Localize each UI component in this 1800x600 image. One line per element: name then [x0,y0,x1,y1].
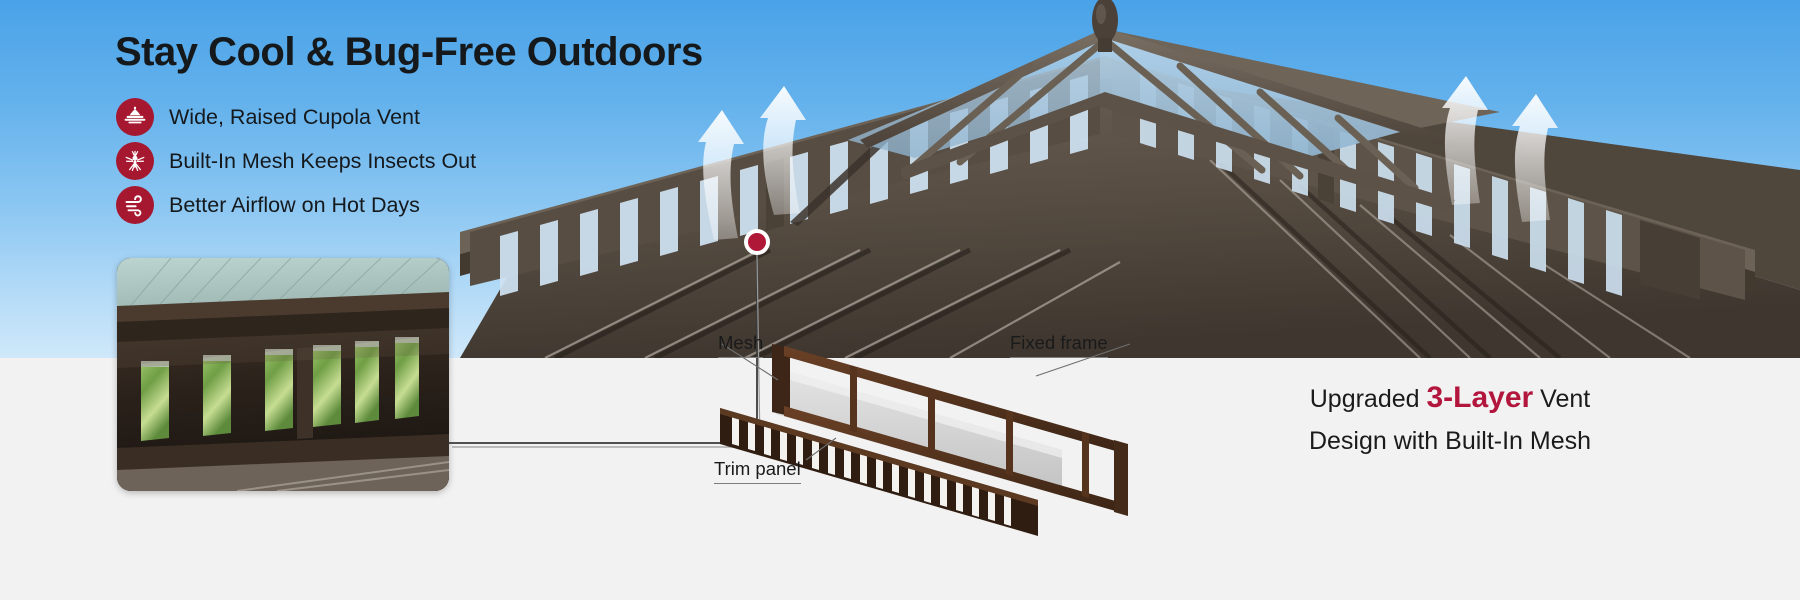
cupola-vent-icon [116,98,154,136]
airflow-wind-icon [116,186,154,224]
vent-closeup-photo-inset [117,258,449,491]
tagline-line-2: Design with Built-In Mesh [1150,422,1750,461]
diagram-label-mesh: Mesh [718,332,763,358]
tagline-highlight: 3-Layer [1427,381,1534,414]
feature-item-mesh-insects: Built-In Mesh Keeps Insects Out [116,142,476,180]
diagram-label-fixed-frame: Fixed frame [1010,332,1108,358]
feature-item-label: Built-In Mesh Keeps Insects Out [169,149,476,174]
mosquito-icon [116,142,154,180]
tagline-block: Upgraded 3-Layer Vent Design with Built-… [1150,375,1750,460]
tagline-line-1: Upgraded 3-Layer Vent [1150,375,1750,422]
page-title: Stay Cool & Bug-Free Outdoors [115,30,703,75]
feature-item-label: Wide, Raised Cupola Vent [169,105,420,130]
feature-list: Wide, Raised Cupola Vent [116,98,476,230]
feature-item-airflow: Better Airflow on Hot Days [116,186,476,224]
tagline-prefix: Upgraded [1310,385,1427,413]
diagram-label-trim-panel: Trim panel [714,458,801,484]
feature-item-cupola-vent: Wide, Raised Cupola Vent [116,98,476,136]
tagline-suffix: Vent [1533,385,1590,413]
feature-item-label: Better Airflow on Hot Days [169,193,420,218]
feature-banner: Stay Cool & Bug-Free Outdoors Wide, Rais… [0,0,1800,600]
